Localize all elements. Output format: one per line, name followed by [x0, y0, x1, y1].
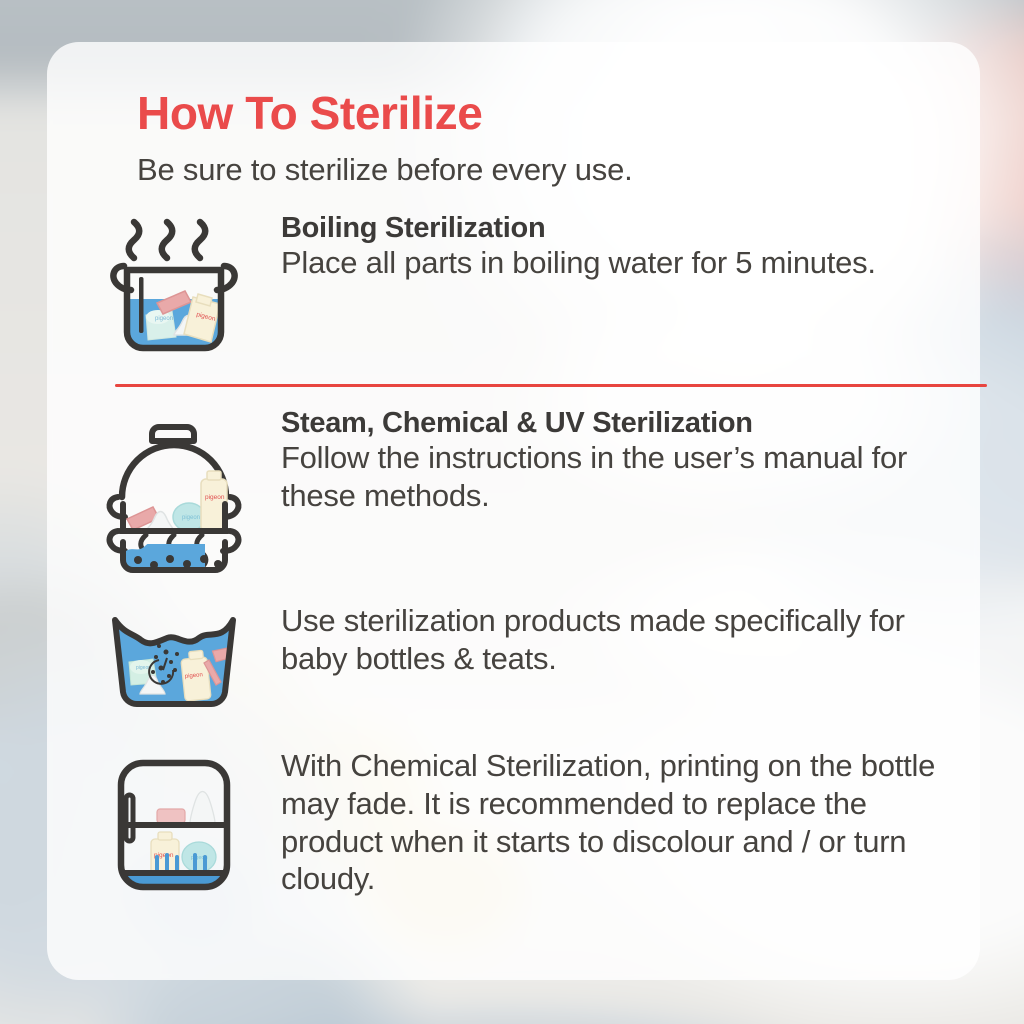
- boiling-pot-icon: pigeon pigeon: [94, 214, 254, 364]
- row-heading-boiling: Boiling Sterilization: [281, 212, 938, 244]
- row-steam-sterilization: pigeon pigeon: [89, 405, 938, 574]
- chemical-note-text-cell: With Chemical Sterilization, printing on…: [281, 745, 938, 898]
- uv-cabinet-icon-cell: pigeon pigeon: [89, 745, 259, 898]
- svg-text:pigeon: pigeon: [155, 316, 173, 322]
- page-title: How To Sterilize: [137, 90, 938, 136]
- section-divider: [115, 384, 987, 387]
- row-body-chemical-note: With Chemical Sterilization, printing on…: [281, 747, 938, 898]
- boiling-text-cell: Boiling Sterilization Place all parts in…: [281, 210, 938, 282]
- row-body-products: Use sterilization products made specific…: [281, 602, 938, 678]
- row-body-steam: Follow the instructions in the user’s ma…: [281, 439, 938, 515]
- wash-basin-icon-cell: pigeon: [89, 600, 259, 715]
- boiling-pot-icon-cell: pigeon pigeon: [89, 210, 259, 364]
- steam-sterilizer-icon: pigeon pigeon: [94, 409, 254, 574]
- poster-stage: How To Sterilize Be sure to sterilize be…: [0, 0, 1024, 1024]
- uv-cabinet-icon: pigeon pigeon: [99, 753, 249, 898]
- steam-sterilizer-icon-cell: pigeon pigeon: [89, 405, 259, 574]
- row-boiling-sterilization: pigeon pigeon Boiling Sterilization: [89, 210, 938, 364]
- row-heading-steam: Steam, Chemical & UV Sterilization: [281, 407, 938, 439]
- instruction-card: How To Sterilize Be sure to sterilize be…: [47, 42, 980, 980]
- row-chemical-sterilization-note: pigeon pigeon: [89, 745, 938, 898]
- steam-text-cell: Steam, Chemical & UV Sterilization Follo…: [281, 405, 938, 515]
- row-sterilization-products: pigeon: [89, 600, 938, 715]
- svg-text:pigeon: pigeon: [182, 515, 200, 521]
- svg-text:pigeon: pigeon: [205, 494, 225, 501]
- page-subtitle: Be sure to sterilize before every use.: [137, 152, 938, 188]
- products-text-cell: Use sterilization products made specific…: [281, 600, 938, 678]
- wash-basin-icon: pigeon: [99, 610, 249, 715]
- row-body-boiling: Place all parts in boiling water for 5 m…: [281, 244, 938, 282]
